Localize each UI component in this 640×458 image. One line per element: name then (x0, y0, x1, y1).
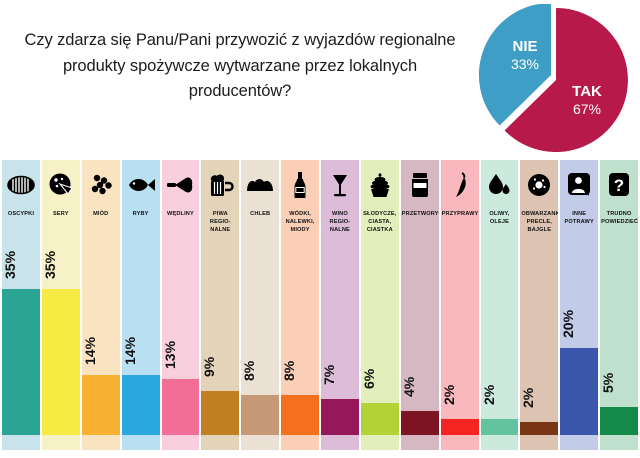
category-label: INNE POTRAWY (560, 210, 598, 226)
bar-value-label: 2% (481, 374, 519, 416)
wine-glass-icon (321, 160, 359, 210)
category-label: OSCYPKI (2, 210, 40, 218)
header: Czy zdarza się Panu/Pani przywozić z wyj… (0, 0, 640, 155)
bar-value-label: 8% (241, 350, 279, 392)
bar-column: CHLEB8% (241, 160, 279, 450)
bar-value-label: 14% (82, 330, 120, 372)
pie-label-tak-value: 67% (573, 101, 601, 117)
jar-icon (401, 160, 439, 210)
bar-value-label: 35% (2, 244, 40, 286)
honeycomb-icon (82, 160, 120, 210)
bar (162, 379, 200, 435)
pie-chart: NIE 33% TAK 67% (472, 4, 636, 154)
category-label: SERY (42, 210, 80, 218)
bar-column: SŁODYCZE, CIASTA, CIASTKA6% (361, 160, 399, 450)
question-mark-icon: ? (600, 160, 638, 210)
oil-drop-icon (481, 160, 519, 210)
bar-value-label: 14% (122, 330, 160, 372)
bar-column: INNE POTRAWY20% (560, 160, 598, 450)
question-text: Czy zdarza się Panu/Pani przywozić z wyj… (10, 28, 470, 105)
bar (600, 407, 638, 435)
bar-value-label: 13% (162, 334, 200, 376)
bread-icon (241, 160, 279, 210)
bar-column: OBWARZANKI, PRECLE, BAJGLE2% (520, 160, 558, 450)
bar (481, 419, 519, 435)
bar-value-label: 2% (520, 377, 558, 419)
bar-column: MIÓD14% (82, 160, 120, 450)
ham-icon (162, 160, 200, 210)
bagel-icon (520, 160, 558, 210)
cupcake-icon (361, 160, 399, 210)
bar-column: RYBY14% (122, 160, 160, 450)
bar (201, 391, 239, 435)
bar-value-label: 6% (361, 358, 399, 400)
bottle-icon (281, 160, 319, 210)
bar (401, 411, 439, 435)
bar-value-label: 7% (321, 354, 359, 396)
category-label: OBWARZANKI, PRECLE, BAJGLE (520, 210, 558, 234)
bar-value-label: 5% (600, 362, 638, 404)
bar-column: OLIWY, OLEJE2% (481, 160, 519, 450)
category-label: WÓDKI, NALEWKI, MIODY (281, 210, 319, 234)
bar (2, 289, 40, 435)
bar (441, 419, 479, 435)
svg-text:?: ? (614, 176, 624, 195)
cheese-log-icon (2, 160, 40, 210)
pie-label-nie-text: NIE (512, 38, 537, 55)
category-label: WĘDLINY (162, 210, 200, 218)
bar-column: WINO REGIO- NALNE7% (321, 160, 359, 450)
category-label: WINO REGIO- NALNE (321, 210, 359, 234)
category-label: OLIWY, OLEJE (481, 210, 519, 226)
bar (281, 395, 319, 435)
bar-column: SERY35% (42, 160, 80, 450)
category-label: RYBY (122, 210, 160, 218)
category-label: TRUDNO POWIEDZIEĆ (600, 210, 638, 226)
fish-icon (122, 160, 160, 210)
person-speech-icon (560, 160, 598, 210)
bar-column: WÓDKI, NALEWKI, MIODY8% (281, 160, 319, 450)
bar-column: PRZYPRAWY2% (441, 160, 479, 450)
beer-mug-icon (201, 160, 239, 210)
bar-value-label: 9% (201, 346, 239, 388)
bar-value-label: 2% (441, 374, 479, 416)
bar (241, 395, 279, 435)
bar-value-label: 4% (401, 366, 439, 408)
bar-chart: OSCYPKI35%SERY35%MIÓD14%RYBY14%WĘDLINY13… (0, 160, 640, 458)
category-label: PRZETWORY (401, 210, 439, 218)
bar-column: OSCYPKI35% (2, 160, 40, 450)
bar-column: WĘDLINY13% (162, 160, 200, 450)
category-label: PIWA REGIO- NALNE (201, 210, 239, 234)
category-label: CHLEB (241, 210, 279, 218)
cheese-wheel-icon (42, 160, 80, 210)
pie-chart-svg: NIE 33% TAK 67% (472, 4, 636, 154)
category-label: PRZYPRAWY (441, 210, 479, 218)
category-label: MIÓD (82, 210, 120, 218)
bar (122, 375, 160, 435)
bar (82, 375, 120, 435)
bar-value-label: 8% (281, 350, 319, 392)
chili-pepper-icon (441, 160, 479, 210)
category-label: SŁODYCZE, CIASTA, CIASTKA (361, 210, 399, 234)
bar (42, 289, 80, 435)
bar-column: PIWA REGIO- NALNE9% (201, 160, 239, 450)
pie-label-nie-value: 33% (511, 56, 539, 72)
bar-value-label: 35% (42, 244, 80, 286)
bar (560, 348, 598, 435)
bar-value-label: 20% (560, 303, 598, 345)
bar (520, 422, 558, 435)
bar (361, 403, 399, 435)
bar (321, 399, 359, 435)
pie-label-tak-text: TAK (572, 83, 602, 100)
bar-column: PRZETWORY4% (401, 160, 439, 450)
bar-column: ?TRUDNO POWIEDZIEĆ5% (600, 160, 638, 450)
